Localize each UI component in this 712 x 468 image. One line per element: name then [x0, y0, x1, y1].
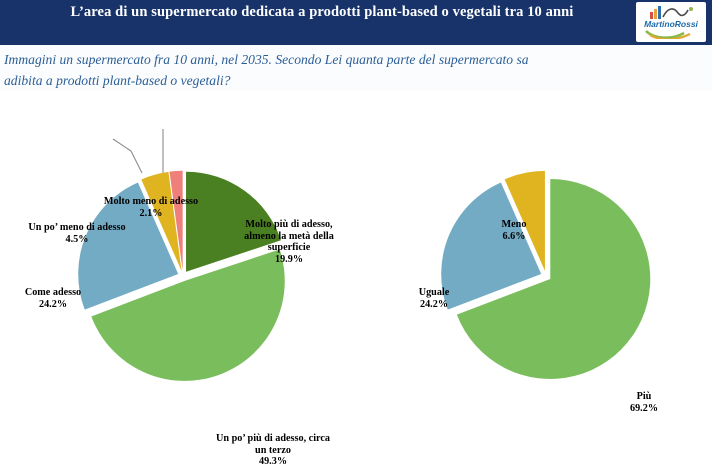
left-pie-label-unpo-piu: Un po’ più di adesso, circa un terzo 49.…	[178, 433, 368, 468]
left-pie-label-come-adesso: Come adesso 24.2%	[2, 287, 104, 310]
charts-container: Molto meno di adesso 2.1% Un po’ meno di…	[0, 91, 712, 400]
leader-line-unpo-meno-2	[131, 151, 142, 173]
logo-swoosh-icon	[644, 29, 698, 39]
right-pie-label-meno: Meno 6.6%	[470, 219, 558, 242]
right-pie-label-uguale: Uguale 24.2%	[396, 287, 472, 310]
left-pie-label-molto-meno: Molto meno di adesso 2.1%	[76, 196, 226, 219]
question-strip: Immagini un supermercato fra 10 anni, ne…	[0, 45, 712, 91]
left-pie-label-unpo-meno: Un po’ meno di adesso 4.5%	[4, 222, 150, 245]
logo-wordmark: MartinoRossi	[636, 19, 706, 29]
company-logo: MartinoRossi	[636, 2, 706, 42]
question-text: Immagini un supermercato fra 10 anni, ne…	[4, 49, 712, 91]
right-pie-label-piu: Più 69.2%	[614, 391, 674, 414]
page-title: L’area di un supermercato dedicata a pro…	[22, 3, 622, 22]
leader-line-unpo-meno	[113, 139, 131, 151]
logo-mark-icon	[636, 3, 706, 20]
left-pie-label-molto-piu: Molto più di adesso, almeno la metà dell…	[216, 219, 362, 265]
